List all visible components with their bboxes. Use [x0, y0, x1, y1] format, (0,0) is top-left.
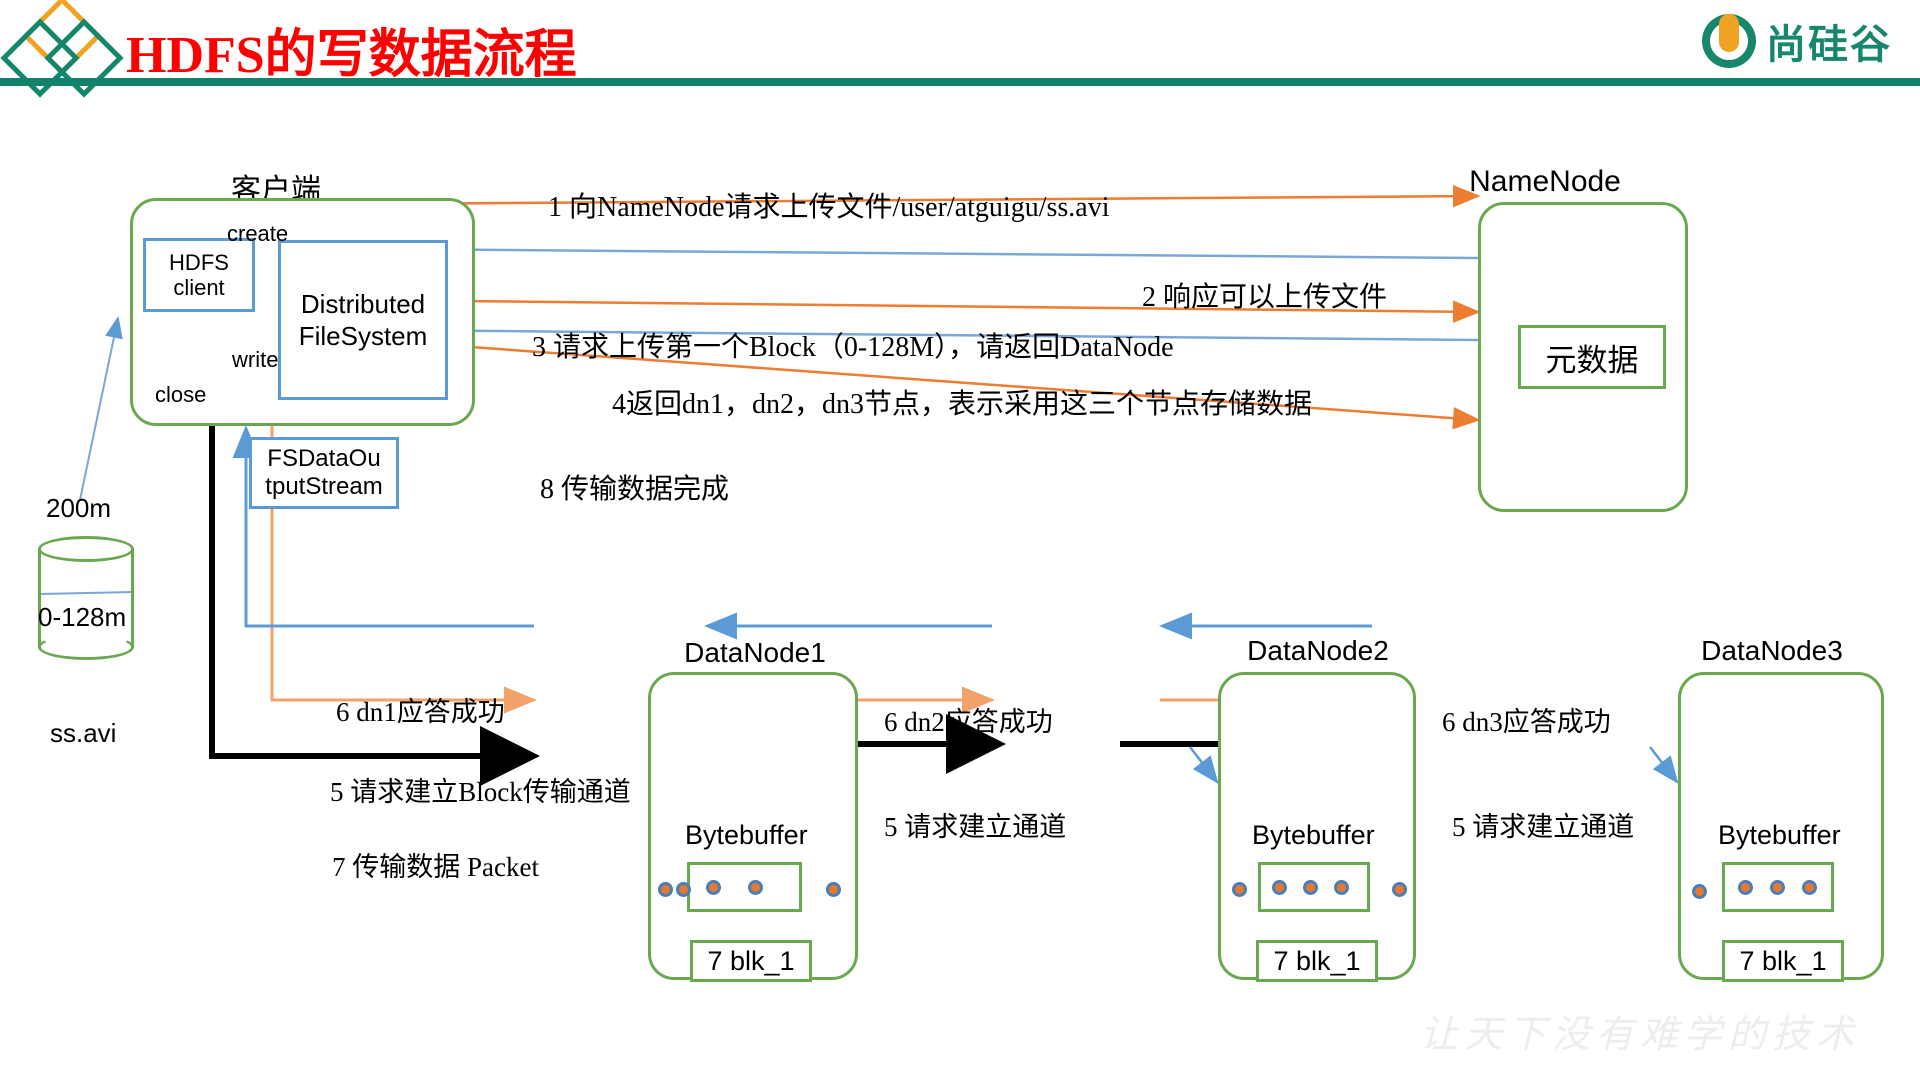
file-size-label: 200m	[46, 493, 111, 524]
datanode3-blk-box: 7 blk_1	[1722, 940, 1844, 982]
datanode3-buffer-label: Bytebuffer	[1718, 820, 1841, 851]
packet-dot	[1802, 880, 1817, 895]
datanode2-buffer-label: Bytebuffer	[1252, 820, 1375, 851]
datanode1-buffer-label: Bytebuffer	[685, 820, 808, 851]
header-divider	[0, 78, 1920, 86]
step8-label: 8 传输数据完成	[540, 467, 729, 507]
step6-dn1-label: 6 dn1应答成功	[336, 690, 505, 729]
step5-dn3-label: 5 请求建立通道	[1452, 805, 1634, 844]
packet-dot	[1232, 882, 1247, 897]
datanode3-caption: DataNode3	[1701, 635, 1843, 667]
buffer-to-blk-dn2-arrow	[1190, 747, 1217, 782]
hdfs-client-label-line2: client	[169, 275, 229, 300]
datanode2-caption: DataNode2	[1247, 635, 1389, 667]
brand-text: 尚硅谷	[1766, 12, 1892, 70]
edge-label-close: close	[155, 382, 206, 408]
file-name-label: ss.avi	[50, 718, 116, 749]
packet-dot	[1738, 880, 1753, 895]
packet-dot	[1272, 880, 1287, 895]
brand-logo: 尚硅谷	[1702, 12, 1892, 70]
fsdos-label-line1: FSDataOu	[265, 445, 382, 473]
packet-dot	[1334, 880, 1349, 895]
page-title: HDFS的写数据流程	[126, 12, 577, 87]
packet-dot	[1692, 884, 1707, 899]
packet-dot	[1770, 880, 1785, 895]
namenode-metadata-label: 元数据	[1546, 335, 1639, 380]
step1-label: 1 向NameNode请求上传文件/user/atguigu/ss.avi	[548, 185, 1109, 225]
slide-canvas: HDFS的写数据流程 尚硅谷	[0, 0, 1920, 1080]
step5-dn1-label: 5 请求建立Block传输通道	[330, 770, 631, 809]
namenode-metadata-box: 元数据	[1518, 325, 1666, 389]
packet-dot	[826, 882, 841, 897]
datanode1-bytebuffer-box	[687, 862, 802, 912]
edge-label-write: write	[232, 347, 278, 373]
watermark: 让天下没有难学的技术	[1420, 1003, 1860, 1058]
datanode1-caption: DataNode1	[684, 637, 826, 669]
packet-dot	[706, 880, 721, 895]
step4-label: 4返回dn1，dn2，dn3节点，表示采用这三个节点存储数据	[612, 382, 1312, 422]
file-block-label: 0-128m	[38, 602, 126, 633]
namenode-caption: NameNode	[1469, 165, 1621, 199]
atguigu-u-icon	[1702, 14, 1756, 68]
packet-dot	[676, 882, 691, 897]
datanode2-blk-box: 7 blk_1	[1256, 940, 1378, 982]
step6-dn2-label: 6 dn2应答成功	[884, 700, 1053, 739]
fsdos-label-line2: tputStream	[265, 473, 382, 501]
file-cylinder	[38, 536, 134, 660]
datanode2-blk-label: 7 blk_1	[1273, 946, 1360, 977]
hdfs-client-label-line1: HDFS	[169, 250, 229, 275]
datanode1-blk-label: 7 blk_1	[707, 946, 794, 977]
distributed-filesystem-box: Distributed FileSystem	[278, 240, 448, 400]
fsdataoutputstream-box: FSDataOu tputStream	[249, 437, 399, 509]
step6-dn3-label: 6 dn3应答成功	[1442, 700, 1611, 739]
slide-header: HDFS的写数据流程 尚硅谷	[0, 0, 1920, 88]
file-to-client-arrow	[80, 318, 118, 500]
edge-label-create: create	[227, 221, 288, 247]
datanode1-blk-box: 7 blk_1	[690, 940, 812, 982]
step7-label: 7 传输数据 Packet	[332, 845, 539, 884]
connector-layer	[0, 0, 1920, 1080]
packet-dot	[1392, 882, 1407, 897]
datanode3-blk-label: 7 blk_1	[1739, 946, 1826, 977]
step3-label: 3 请求上传第一个Block（0-128M），请返回DataNode	[532, 325, 1174, 365]
packet-dot	[658, 882, 673, 897]
hdfs-client-box: HDFS client	[143, 238, 255, 312]
dfs-label-line1: Distributed	[299, 288, 428, 321]
step2-arrow	[380, 249, 1478, 258]
packet-dot	[748, 880, 763, 895]
step5-dn2-label: 5 请求建立通道	[884, 805, 1066, 844]
step2-label: 2 响应可以上传文件	[1142, 275, 1387, 315]
dfs-label-line2: FileSystem	[299, 320, 428, 353]
packet-dot	[1303, 880, 1318, 895]
buffer-to-blk-dn3-arrow	[1650, 747, 1677, 782]
